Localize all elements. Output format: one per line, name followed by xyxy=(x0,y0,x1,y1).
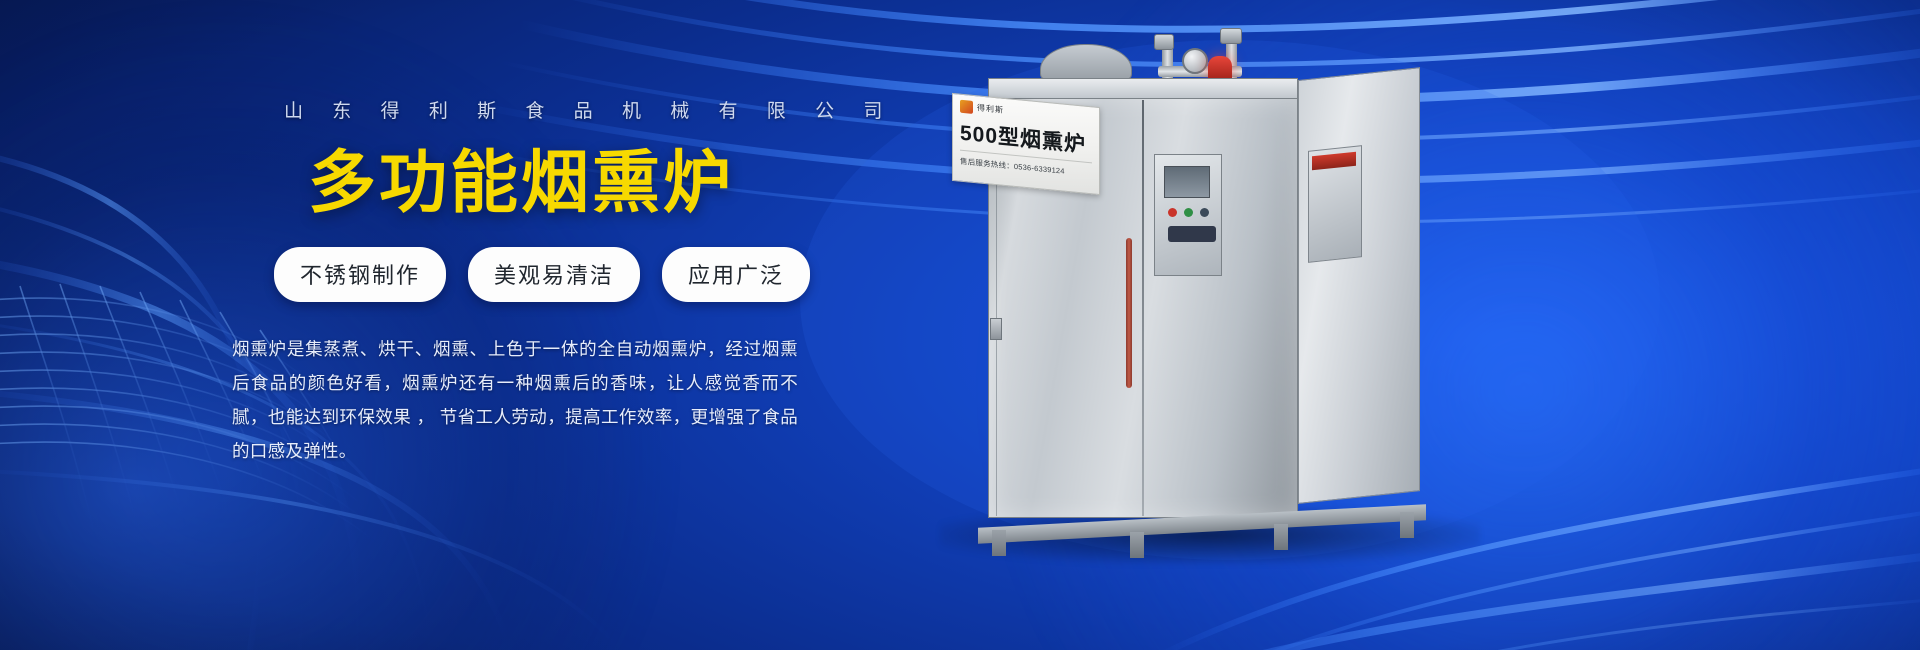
brand-logo-icon xyxy=(960,100,973,114)
panel-button-start[interactable] xyxy=(1184,208,1193,217)
banner-copy: 山 东 得 利 斯 食 品 机 械 有 限 公 司 多功能烟熏炉 不锈钢制作 美… xyxy=(232,96,872,469)
company-name: 山 东 得 利 斯 食 品 机 械 有 限 公 司 xyxy=(232,96,872,123)
top-vent-hood xyxy=(1040,44,1132,80)
valve-right xyxy=(1220,28,1242,44)
machine-leg-3 xyxy=(1274,524,1288,550)
valve-left xyxy=(1154,34,1174,50)
product-description: 烟熏炉是集蒸煮、烘干、烟熏、上色于一体的全自动烟熏炉，经过烟熏后食品的颜色好看，… xyxy=(232,332,798,469)
cabinet-side-panel xyxy=(1298,67,1420,504)
door-hinge-bottom xyxy=(990,318,1002,340)
feature-badge-stainless[interactable]: 不锈钢制作 xyxy=(274,247,446,302)
panel-button-stop[interactable] xyxy=(1168,208,1177,217)
feature-badge-wide-use[interactable]: 应用广泛 xyxy=(662,247,810,302)
product-image: 得利斯 500型烟熏炉 售后服务热线：0536-6339124 xyxy=(930,38,1490,558)
page-title: 多功能烟熏炉 xyxy=(232,149,872,217)
panel-keypad[interactable] xyxy=(1168,226,1216,242)
control-panel-display xyxy=(1164,166,1210,198)
feature-badge-easy-clean[interactable]: 美观易清洁 xyxy=(468,247,640,302)
promo-banner: 山 东 得 利 斯 食 品 机 械 有 限 公 司 多功能烟熏炉 不锈钢制作 美… xyxy=(0,0,1920,650)
machine-leg-1 xyxy=(992,530,1006,556)
nameplate-hotline: 售后服务热线：0536-6339124 xyxy=(960,156,1092,180)
door-seam-right xyxy=(1142,100,1144,516)
panel-button-aux[interactable] xyxy=(1200,208,1209,217)
feature-badge-list: 不锈钢制作 美观易清洁 应用广泛 xyxy=(232,247,872,302)
machine-leg-2 xyxy=(1130,532,1144,558)
machine-nameplate: 得利斯 500型烟熏炉 售后服务热线：0536-6339124 xyxy=(952,93,1100,195)
door-handle[interactable] xyxy=(1126,238,1132,388)
pressure-gauge xyxy=(1182,48,1208,74)
machine-leg-4 xyxy=(1400,512,1414,538)
nameplate-brand: 得利斯 xyxy=(977,102,1004,116)
